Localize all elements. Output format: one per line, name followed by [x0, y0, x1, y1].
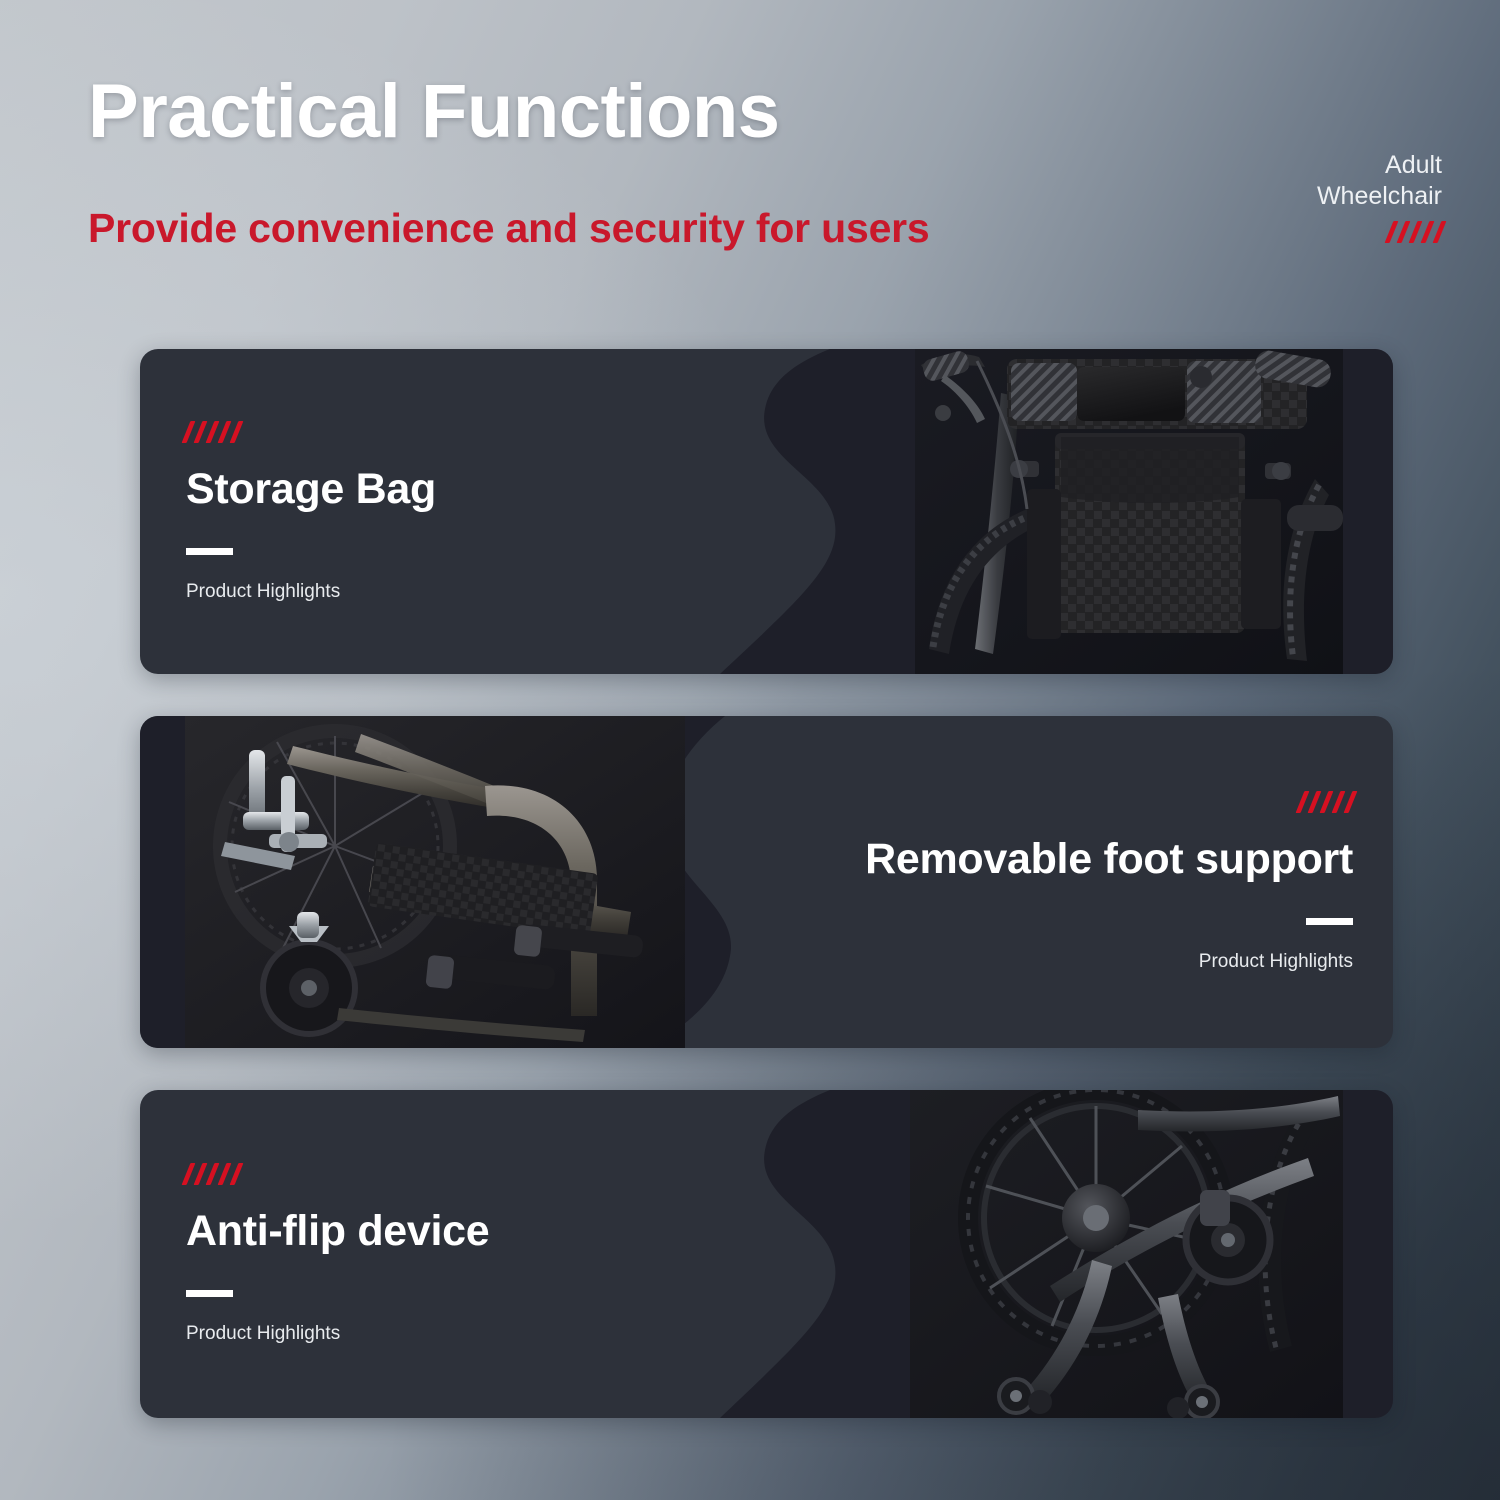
- red-slashes-icon: [186, 421, 239, 443]
- foot-support-illustration: [185, 716, 685, 1048]
- card-divider: [1306, 918, 1353, 925]
- card-title: Storage Bag: [186, 465, 436, 514]
- feature-card-removable-foot-support[interactable]: Removable foot support Product Highlight…: [140, 716, 1393, 1048]
- card-title: Anti-flip device: [186, 1207, 489, 1256]
- anti-flip-illustration: [910, 1090, 1343, 1418]
- card-divider: [186, 1290, 233, 1297]
- card-text-anti-flip: Anti-flip device Product Highlights: [186, 1090, 489, 1418]
- red-slashes-icon: [1317, 221, 1442, 243]
- product-category-line2: Wheelchair: [1317, 181, 1442, 212]
- product-category-tag: Adult Wheelchair: [1317, 150, 1442, 243]
- product-category-line1: Adult: [1317, 150, 1442, 181]
- card-photo-anti-flip: [910, 1090, 1343, 1418]
- card-title: Removable foot support: [865, 835, 1353, 884]
- page-title: Practical Functions: [88, 72, 1088, 152]
- card-subtext: Product Highlights: [186, 1323, 340, 1345]
- feature-card-list: Storage Bag Product Highlights: [140, 349, 1393, 1418]
- feature-card-anti-flip-device[interactable]: Anti-flip device Product Highlights: [140, 1090, 1393, 1418]
- card-subtext: Product Highlights: [186, 581, 340, 603]
- storage-bag-illustration: [915, 349, 1343, 674]
- page-subtitle: Provide convenience and security for use…: [88, 206, 1088, 251]
- card-subtext: Product Highlights: [1199, 951, 1353, 973]
- page-header: Practical Functions Provide convenience …: [88, 72, 1088, 251]
- card-photo-storage-bag: [915, 349, 1343, 674]
- red-slashes-icon: [186, 1163, 239, 1185]
- card-text-foot-support: Removable foot support Product Highlight…: [865, 716, 1353, 1048]
- feature-card-storage-bag[interactable]: Storage Bag Product Highlights: [140, 349, 1393, 674]
- card-photo-foot-support: [185, 716, 685, 1048]
- red-slashes-icon: [1300, 791, 1353, 813]
- card-text-storage-bag: Storage Bag Product Highlights: [186, 349, 436, 674]
- card-divider: [186, 548, 233, 555]
